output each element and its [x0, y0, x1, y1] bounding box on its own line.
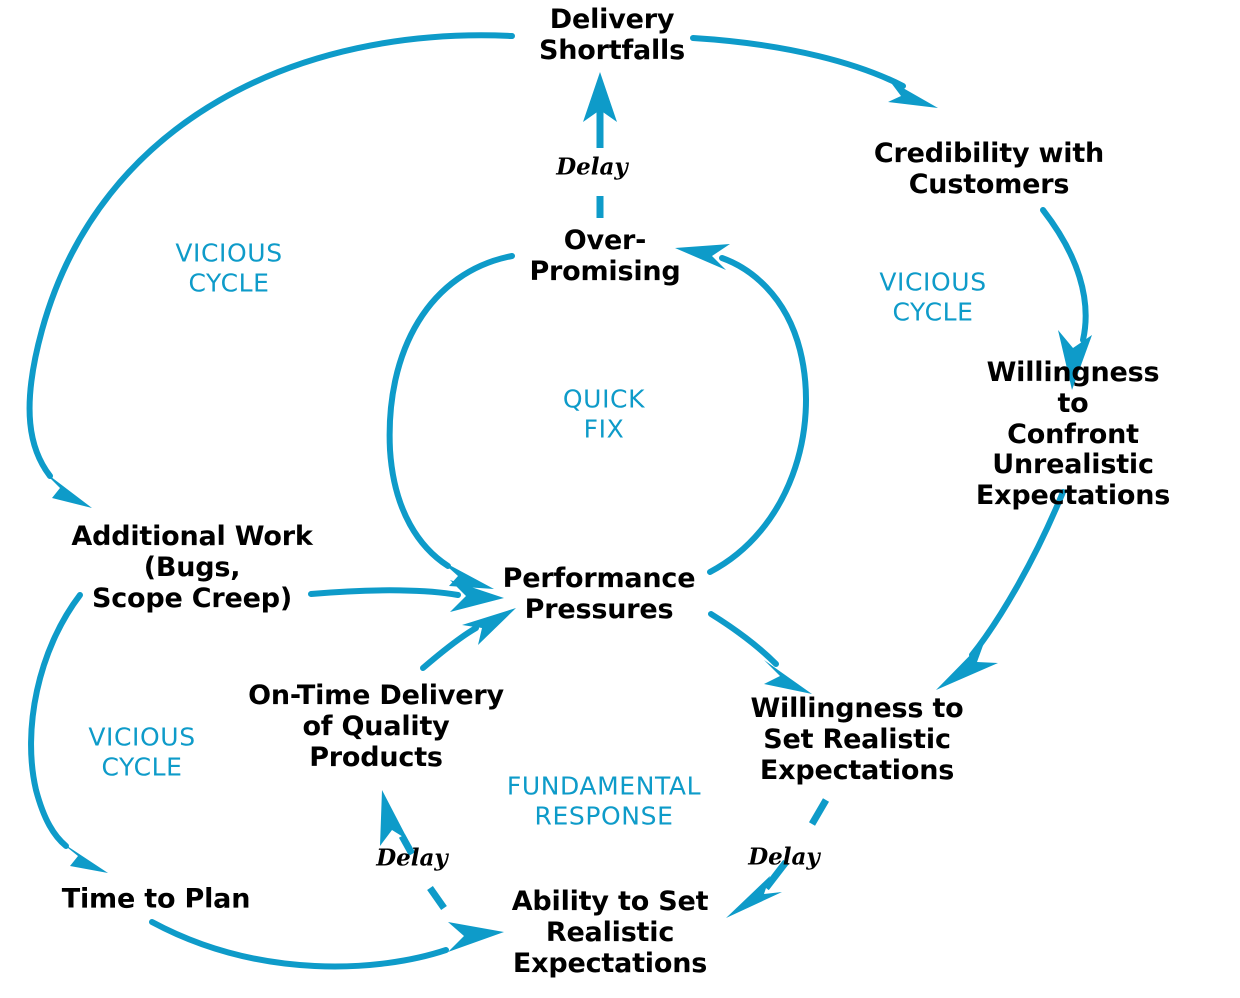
node-ability-set-realistic: Ability to Set Realistic Expectations [512, 887, 709, 979]
delay-label-ability-to-on-time-delivery: Delay [376, 845, 448, 870]
loop-label-vicious-cycle-right: VICIOUS CYCLE [879, 268, 986, 327]
node-willingness-confront-unrealistic: Willingness to Confront Unrealistic Expe… [976, 358, 1170, 512]
delay-label-willingness-to-ability: Delay [748, 844, 820, 869]
node-time-to-plan: Time to Plan [62, 885, 250, 916]
loop-label-quick-fix: QUICK FIX [563, 385, 645, 444]
loop-label-fundamental-response: FUNDAMENTAL RESPONSE [507, 772, 701, 831]
loop-label-vicious-cycle-lower-left: VICIOUS CYCLE [88, 723, 195, 782]
node-willingness-set-realistic: Willingness to Set Realistic Expectation… [750, 694, 963, 786]
node-additional-work: Additional Work (Bugs, Scope Creep) [71, 522, 312, 614]
node-over-promising: Over- Promising [529, 226, 680, 288]
edge-over-promising-to-shortfalls [583, 72, 617, 218]
causal-loop-diagram: Delivery Shortfalls Credibility with Cus… [0, 0, 1240, 998]
edge-shortfalls-to-credibility [693, 38, 938, 108]
node-performance-pressures: Performance Pressures [503, 564, 696, 626]
edge-confront-to-willingness-set [936, 492, 1063, 690]
node-credibility-with-customers: Credibility with Customers [874, 139, 1104, 201]
edge-pressures-to-over-promising [675, 244, 806, 572]
edge-time-to-plan-to-ability [152, 922, 504, 966]
edge-over-promising-to-pressures [390, 256, 512, 589]
node-delivery-shortfalls: Delivery Shortfalls [539, 5, 685, 67]
node-on-time-delivery: On-Time Delivery of Quality Products [248, 681, 504, 773]
edge-pressures-to-willingness-set [711, 614, 812, 694]
delay-label-over-promising-to-shortfalls: Delay [556, 154, 628, 179]
loop-label-vicious-cycle-upper-left: VICIOUS CYCLE [175, 239, 282, 298]
